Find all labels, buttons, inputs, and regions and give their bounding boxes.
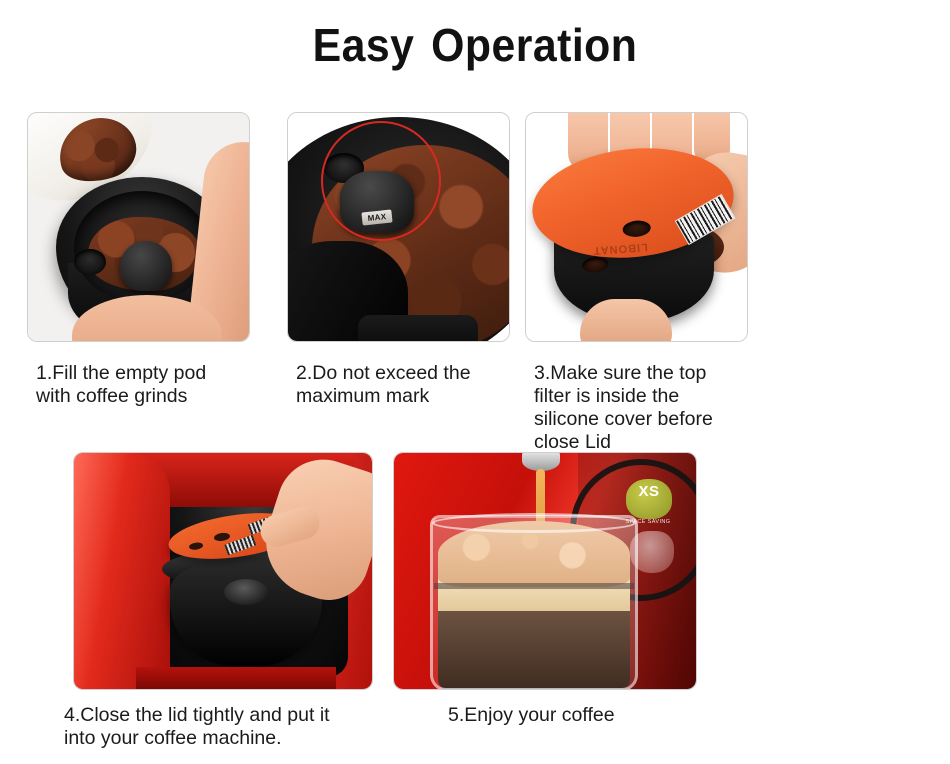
step-5-caption: 5.Enjoy your coffee [448,704,708,727]
step-4-image [73,452,373,690]
lid-hole-1 [214,532,231,542]
lid-brand-text: LIBONAT [592,241,648,257]
step-3-image: LIBONAT [525,112,748,342]
page-title-word-1: Easy [313,19,415,71]
machine-left-panel [74,453,170,689]
step-4-caption: 4.Close the lid tightly and put it into … [64,704,394,750]
pod-lower-body [358,315,478,341]
step-2-image: MAX [287,112,510,342]
machine-base [136,667,336,689]
step-2-photo: MAX [288,113,509,341]
holder-center-pin [224,579,268,605]
lid-hole-2 [189,542,204,551]
instruction-page: EasyOperation 1.Fill the empty pod with … [0,0,950,764]
step-5-photo: XS SPACE SAVING [394,453,696,689]
step-5-image: XS SPACE SAVING [393,452,697,690]
hand-thumb [580,299,672,341]
step-1-caption: 1.Fill the empty pod with coffee grinds [36,362,266,408]
page-title-word-2: Operation [431,19,637,71]
glass-cup [430,515,638,689]
page-title: EasyOperation [33,18,917,72]
step-1-image [27,112,250,342]
step-3-caption: 3.Make sure the top filter is inside the… [534,362,758,454]
xs-badge: XS [626,479,672,519]
pod-side-hole [74,249,106,275]
lid-hole-1 [622,219,652,238]
red-highlight-circle [321,121,441,241]
step-1-photo [28,113,249,341]
step-2-caption: 2.Do not exceed the maximum mark [296,362,526,408]
step-4-photo [74,453,372,689]
pod-center-nub [120,241,172,291]
step-3-photo: LIBONAT [526,113,747,341]
glass-cup-rim [432,513,636,533]
